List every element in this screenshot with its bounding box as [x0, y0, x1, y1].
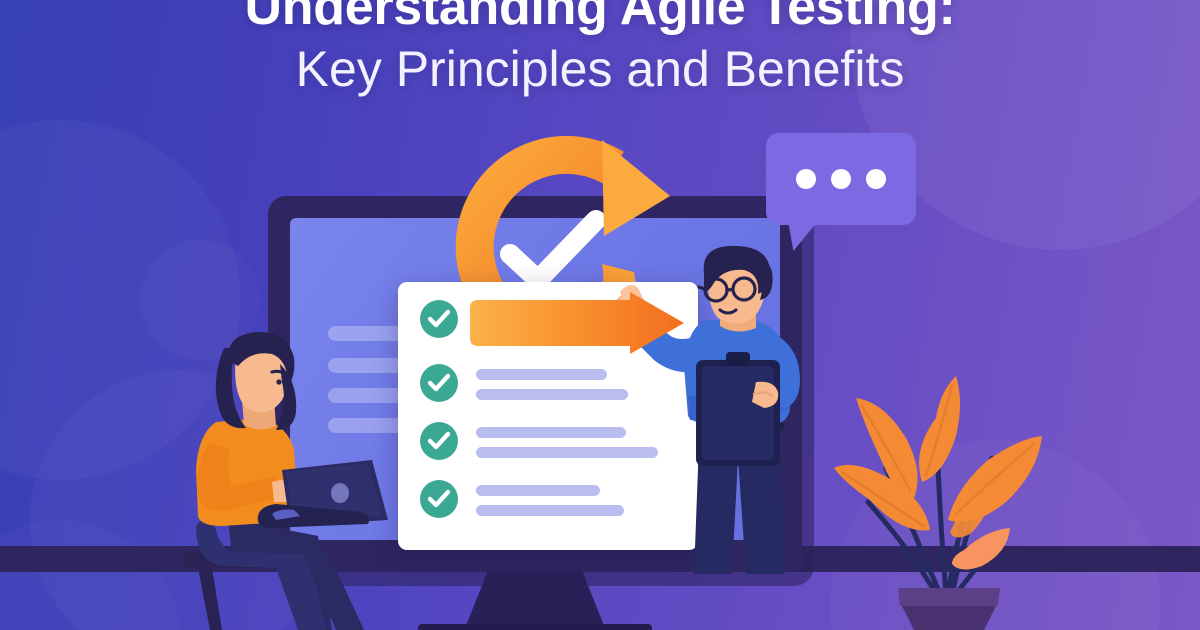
monitor-stand-foot: [418, 624, 652, 630]
checklist-text-bar: [476, 369, 607, 380]
checklist-text-bar: [476, 427, 626, 438]
title-line-1: Understanding Agile Testing:: [0, 0, 1200, 36]
bg-circle-bottom-left: [0, 520, 180, 630]
speech-bubble-body: [766, 133, 916, 225]
checklist-text-bar: [476, 485, 600, 496]
page-title: Understanding Agile Testing: Key Princip…: [0, 0, 1200, 99]
checklist-text-bar: [476, 505, 624, 516]
monitor-stand-neck: [465, 572, 605, 628]
checklist-text-bar: [476, 447, 658, 458]
hero-banner: Understanding Agile Testing: Key Princip…: [0, 0, 1200, 630]
typing-dot-2: [831, 169, 851, 189]
checklist-text-bar: [476, 389, 628, 400]
typing-dot-3: [866, 169, 886, 189]
woman-with-laptop: [176, 330, 426, 630]
potted-plant-icon: [840, 362, 1070, 630]
forward-arrow-icon: [462, 296, 688, 358]
clipboard-icon: [696, 352, 780, 466]
title-line-2: Key Principles and Benefits: [0, 40, 1200, 99]
typing-dot-1: [796, 169, 816, 189]
plant-pot: [898, 588, 1000, 630]
speech-bubble-icon: [766, 133, 916, 237]
